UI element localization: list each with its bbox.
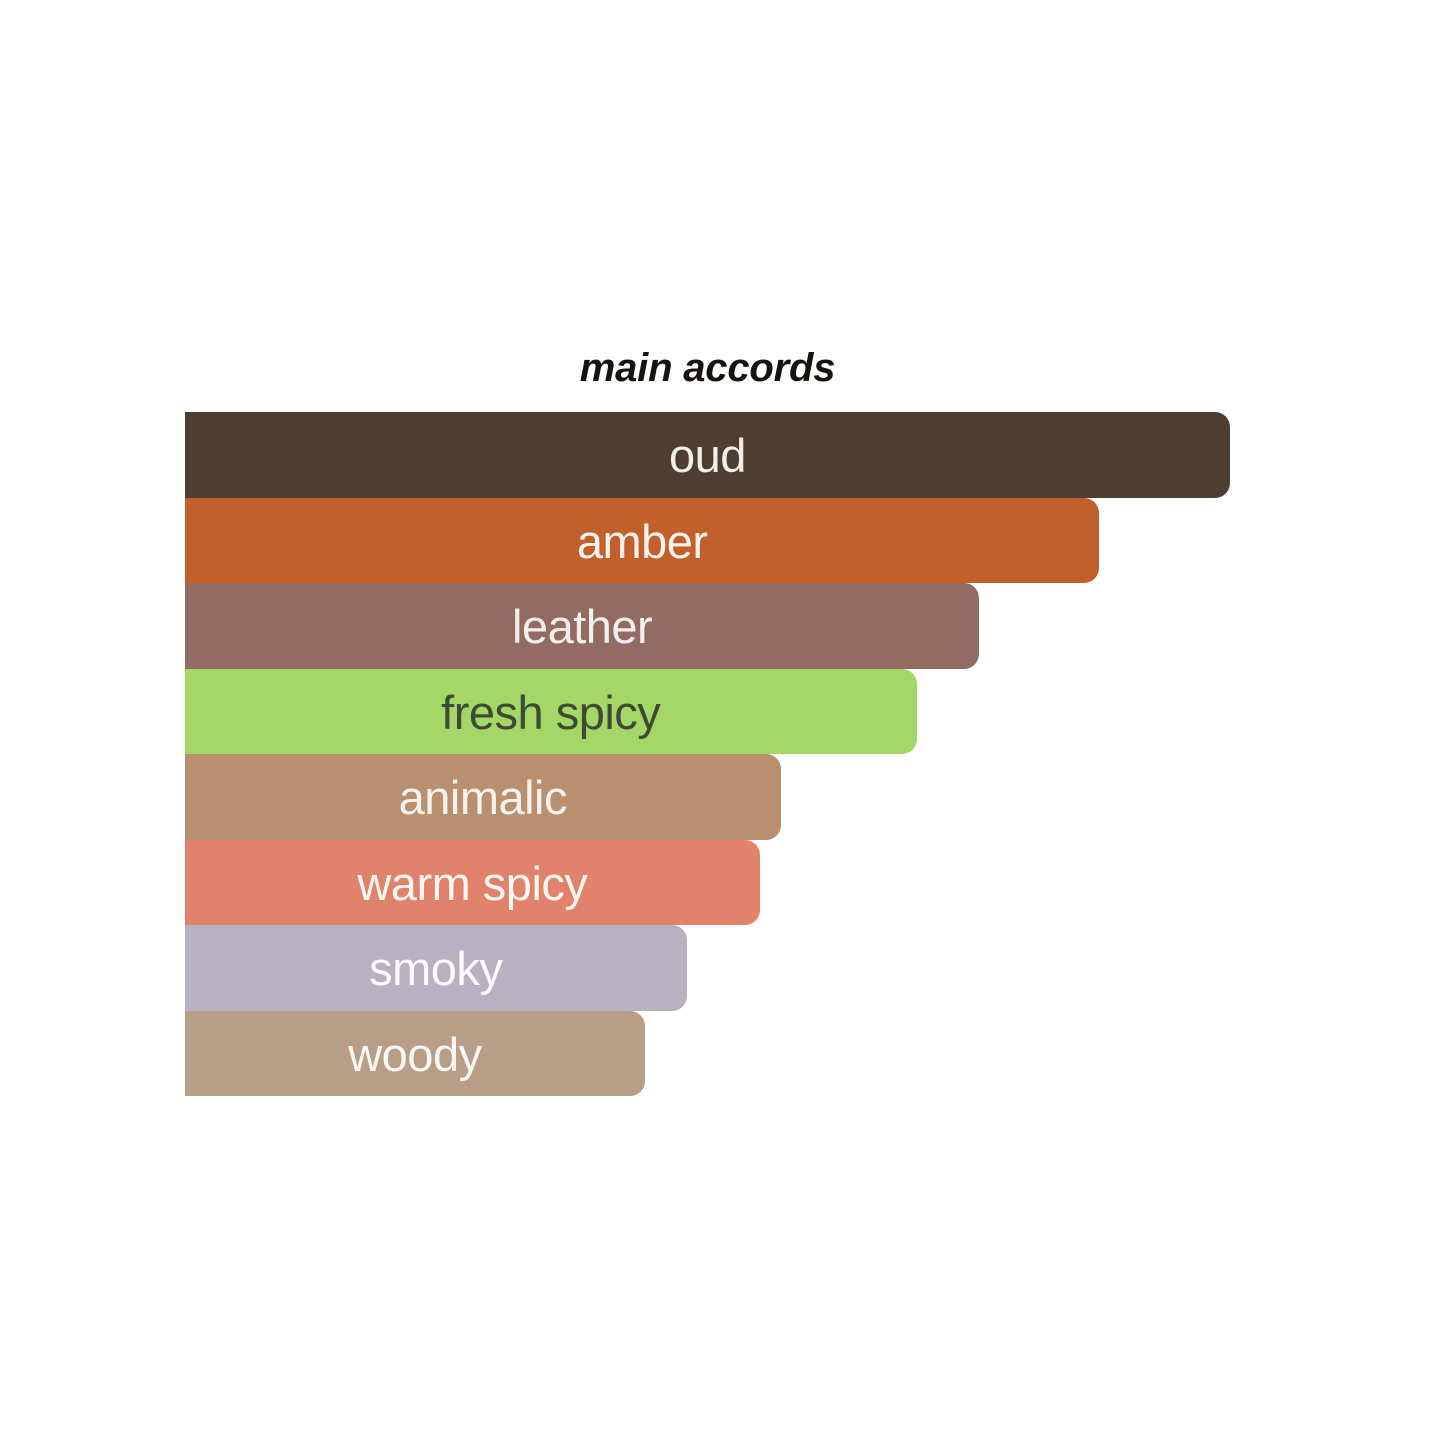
- accord-bar-smoky[interactable]: smoky: [185, 925, 687, 1011]
- accord-label: amber: [577, 518, 708, 565]
- accord-bar-amber[interactable]: amber: [185, 498, 1099, 584]
- accord-row[interactable]: warm spicy: [185, 840, 1230, 926]
- accord-bar-warm-spicy[interactable]: warm spicy: [185, 840, 760, 926]
- accord-label: fresh spicy: [441, 689, 660, 736]
- accord-row[interactable]: woody: [185, 1011, 1230, 1097]
- accord-bar-fresh-spicy[interactable]: fresh spicy: [185, 669, 917, 755]
- accord-bar-leather[interactable]: leather: [185, 583, 979, 669]
- accord-label: animalic: [399, 774, 567, 821]
- accord-label: woody: [348, 1031, 481, 1078]
- chart-title: main accords: [185, 348, 1230, 388]
- accord-bar-animalic[interactable]: animalic: [185, 754, 781, 840]
- accord-bar-woody[interactable]: woody: [185, 1011, 645, 1097]
- screenshot-canvas: main accords oudamberleatherfresh spicya…: [0, 0, 1445, 1445]
- accord-row[interactable]: animalic: [185, 754, 1230, 840]
- accord-bar-oud[interactable]: oud: [185, 412, 1230, 498]
- accord-row[interactable]: oud: [185, 412, 1230, 498]
- accord-row[interactable]: amber: [185, 498, 1230, 584]
- accord-label: smoky: [369, 945, 502, 992]
- accord-row[interactable]: smoky: [185, 925, 1230, 1011]
- accord-label: oud: [669, 432, 746, 479]
- accord-label: warm spicy: [357, 860, 587, 907]
- accord-row[interactable]: leather: [185, 583, 1230, 669]
- accord-bar-list: oudamberleatherfresh spicyanimalicwarm s…: [185, 412, 1230, 1096]
- main-accords-chart: main accords oudamberleatherfresh spicya…: [185, 348, 1230, 1096]
- accord-row[interactable]: fresh spicy: [185, 669, 1230, 755]
- accord-label: leather: [512, 603, 652, 650]
